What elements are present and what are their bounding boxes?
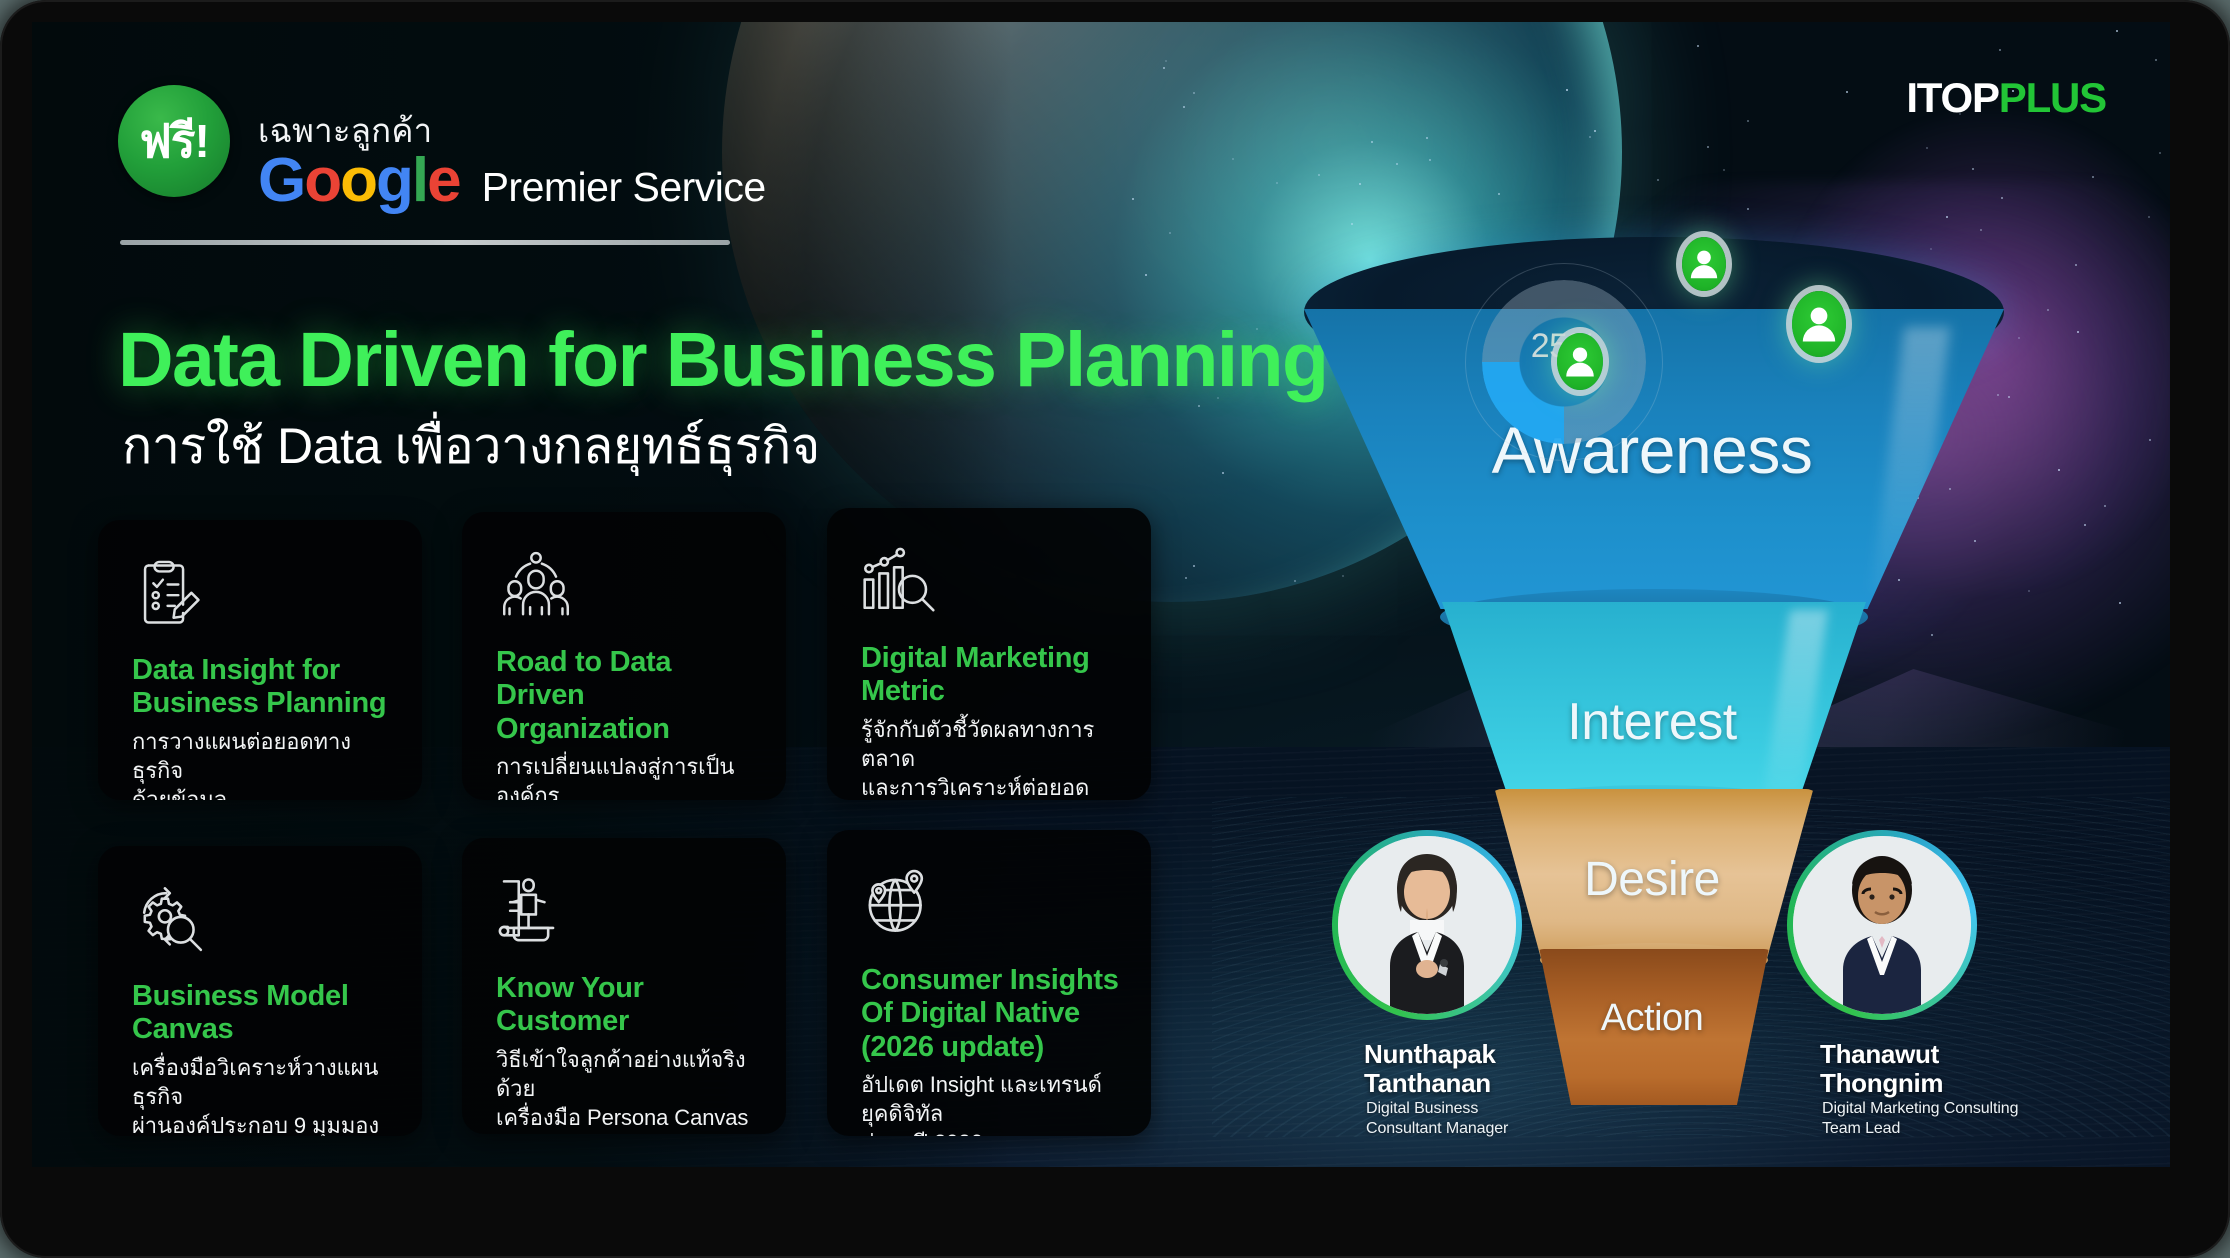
people-network-icon	[496, 546, 756, 624]
card-body: วิธีเข้าใจลูกค้าอย่างแท้จริงด้วย เครื่อง…	[496, 1045, 756, 1134]
speaker-photo-female	[1338, 836, 1516, 1014]
card-body: การวางแผนต่อยอดทางธุรกิจ ด้วยข้อมูล	[132, 727, 392, 800]
google-wordmark: Google	[258, 150, 460, 212]
card-body: อัปเดต Insight และเทรนด์ยุคดิจิทัล ล่าสุ…	[861, 1070, 1121, 1136]
gear-magnifier-icon	[132, 880, 392, 958]
card-body: การเปลี่ยนแปลงสู่การเป็นองค์กร ที่ขับเคล…	[496, 752, 756, 800]
premier-service-label: Premier Service	[482, 164, 766, 211]
card-body: เครื่องมือวิเคราะห์วางแผนธุรกิจ ผ่านองค์…	[132, 1053, 392, 1136]
card-heading: Business Model Canvas	[132, 980, 392, 1047]
card-heading: Data Insight for Business Planning	[132, 654, 392, 721]
speaker-name-male: Thanawut Thongnim	[1820, 1040, 1943, 1098]
speaker-name-female: Nunthapak Tanthanan	[1364, 1040, 1496, 1098]
feature-card-road-to-data-driven[interactable]: Road to Data Driven Organization การเปลี…	[462, 512, 786, 800]
feature-card-business-model-canvas[interactable]: Business Model Canvas เครื่องมือวิเคราะห…	[98, 846, 422, 1136]
bar-chart-magnifier-icon	[861, 542, 1121, 620]
feature-card-digital-marketing-metric[interactable]: Digital Marketing Metric รู้จักกับตัวชี้…	[827, 508, 1151, 800]
user-avatar-icon	[1682, 237, 1726, 291]
slide-canvas: ฟรี! เฉพาะลูกค้า Google Premier Service …	[32, 22, 2170, 1167]
free-badge-label: ฟรี!	[139, 105, 209, 178]
logo-itop: ITOP	[1906, 74, 1998, 121]
feature-card-consumer-insights[interactable]: Consumer Insights Of Digital Native (202…	[827, 830, 1151, 1136]
device-bezel: ฟรี! เฉพาะลูกค้า Google Premier Service …	[0, 0, 2230, 1258]
logo-plus: PLUS	[1999, 74, 2106, 121]
speaker-role-female: Digital Business Consultant Manager	[1366, 1099, 1508, 1139]
speaker-avatar-male	[1787, 830, 1977, 1020]
page-subtitle: การใช้ Data เพื่อวางกลยุทธ์ธุรกิจ	[122, 407, 820, 486]
feature-card-data-insight[interactable]: Data Insight for Business Planning การวา…	[98, 520, 422, 800]
funnel-label-awareness: Awareness	[1282, 412, 2022, 488]
person-podium-icon	[496, 872, 756, 950]
card-body: รู้จักกับตัวชี้วัดผลทางการตลาด และการวิเ…	[861, 715, 1121, 800]
card-heading: Consumer Insights Of Digital Native (202…	[861, 964, 1121, 1064]
card-heading: Digital Marketing Metric	[861, 642, 1121, 709]
feature-card-know-your-customer[interactable]: Know Your Customer วิธีเข้าใจลูกค้าอย่าง…	[462, 838, 786, 1134]
free-badge: ฟรี!	[118, 85, 230, 197]
card-heading: Road to Data Driven Organization	[496, 646, 756, 746]
user-avatar-icon	[1557, 333, 1603, 390]
header-divider	[120, 240, 730, 245]
card-heading: Know Your Customer	[496, 972, 756, 1039]
speaker-avatar-female	[1332, 830, 1522, 1020]
google-premier-lockup: Google Premier Service	[258, 150, 766, 212]
funnel-label-interest: Interest	[1282, 692, 2022, 752]
speaker-photo-male	[1793, 836, 1971, 1014]
globe-pins-icon	[861, 864, 1121, 942]
page-title: Data Driven for Business Planning	[118, 322, 1327, 399]
checklist-pencil-icon	[132, 554, 392, 632]
user-avatar-icon	[1792, 291, 1846, 357]
speaker-role-male: Digital Marketing Consulting Team Lead	[1822, 1099, 2018, 1139]
itopplus-logo: ITOPPLUS	[1906, 74, 2106, 122]
